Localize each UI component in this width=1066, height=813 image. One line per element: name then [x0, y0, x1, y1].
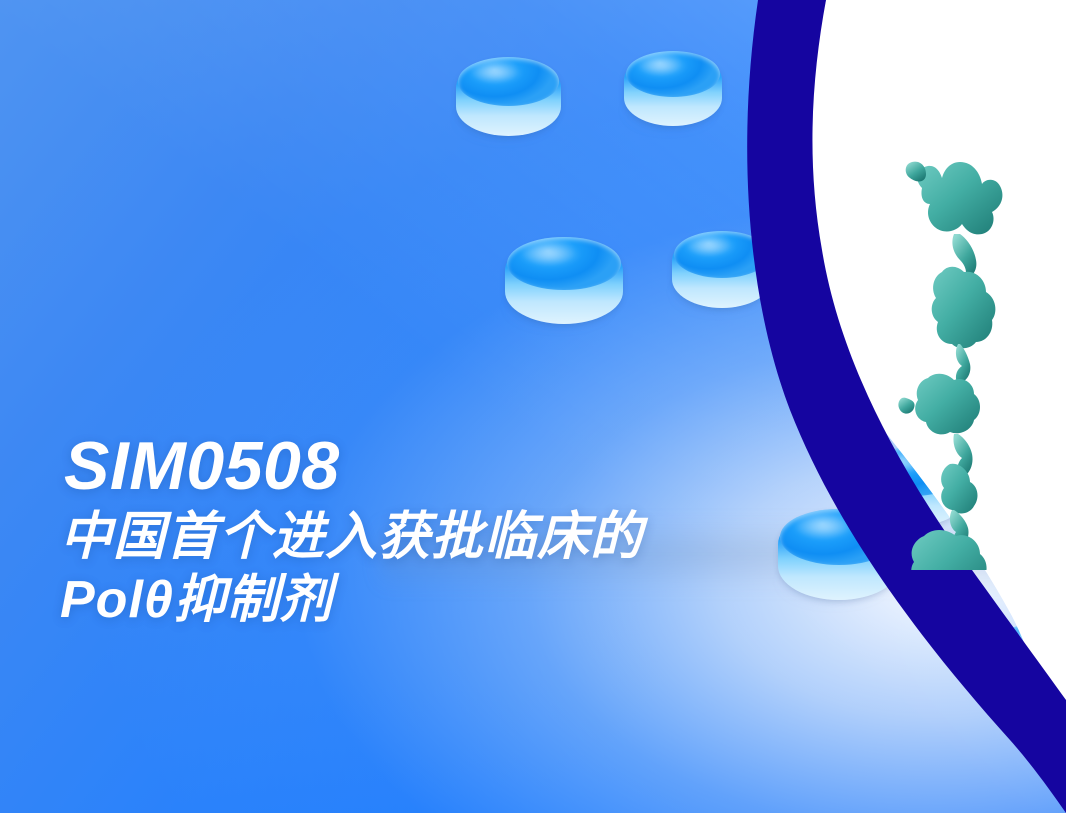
tablet-pill-7 [988, 624, 1066, 708]
tablet-pill-4 [672, 232, 772, 308]
tablet-highlight [1001, 629, 1058, 651]
subtitle-line-1: 中国首个进入获批临床的 [60, 507, 878, 567]
subtitle-line-2: Polθ抑制剂 [60, 570, 878, 630]
tablet-highlight [636, 56, 687, 75]
tablet-pill-2 [624, 52, 722, 126]
poster-canvas: SIM0508 中国首个进入获批临床的 Polθ抑制剂 [0, 0, 1066, 813]
tablet-pill-1 [456, 58, 561, 136]
tablet-highlight [874, 453, 928, 473]
tablet-pill-3 [505, 238, 623, 324]
page-title: SIM0508 [64, 432, 878, 501]
headline-block: SIM0508 中国首个进入获批临床的 Polθ抑制剂 [58, 432, 878, 630]
tablet-highlight [684, 237, 736, 257]
tablet-highlight [519, 243, 580, 265]
tablet-highlight [469, 63, 524, 83]
